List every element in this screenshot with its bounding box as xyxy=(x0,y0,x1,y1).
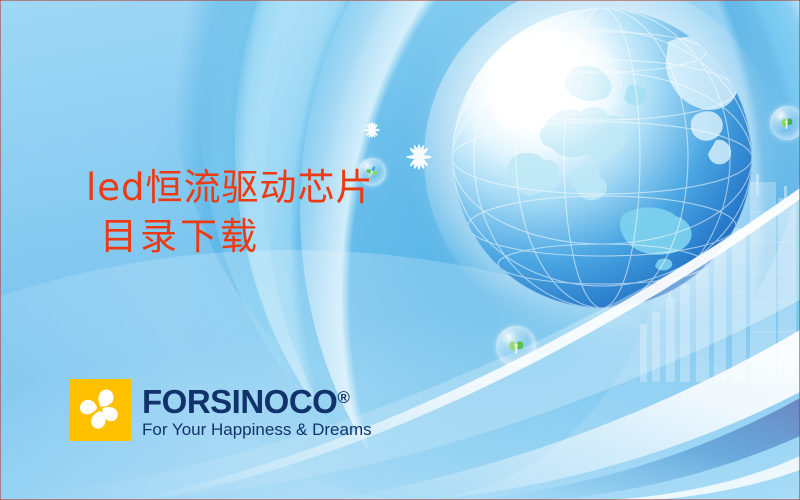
promo-banner: led恒流驱动芯片 目录下载 FORSINOCO® For Your Happi… xyxy=(0,0,800,500)
border-top xyxy=(0,0,800,1)
globe-sphere xyxy=(452,8,752,308)
pinwheel-flower-icon xyxy=(69,379,131,441)
brand-tagline: For Your Happiness & Dreams xyxy=(142,420,372,440)
bubble-pinwheel-edge xyxy=(770,106,800,140)
brand-name: FORSINOCO® xyxy=(142,381,372,419)
border-left xyxy=(0,0,1,500)
bubble-pinwheel-large xyxy=(496,326,536,366)
forsinoco-pinwheel-mark xyxy=(69,379,131,441)
earth-globe-asia-pacific xyxy=(452,8,752,308)
headline-block: led恒流驱动芯片 目录下载 xyxy=(86,163,506,261)
headline-line-1: led恒流驱动芯片 xyxy=(86,163,506,212)
logo-wordmark: FORSINOCO® For Your Happiness & Dreams xyxy=(142,381,372,440)
brand-name-text: FORSINOCO xyxy=(142,383,337,420)
pinwheel-icon xyxy=(777,113,796,132)
registered-trademark-icon: ® xyxy=(337,388,350,407)
globe-rim-light xyxy=(452,8,752,308)
headline-line-2: 目录下载 xyxy=(86,212,506,261)
company-logo: FORSINOCO® For Your Happiness & Dreams xyxy=(69,379,372,441)
pinwheel-icon xyxy=(505,335,527,357)
